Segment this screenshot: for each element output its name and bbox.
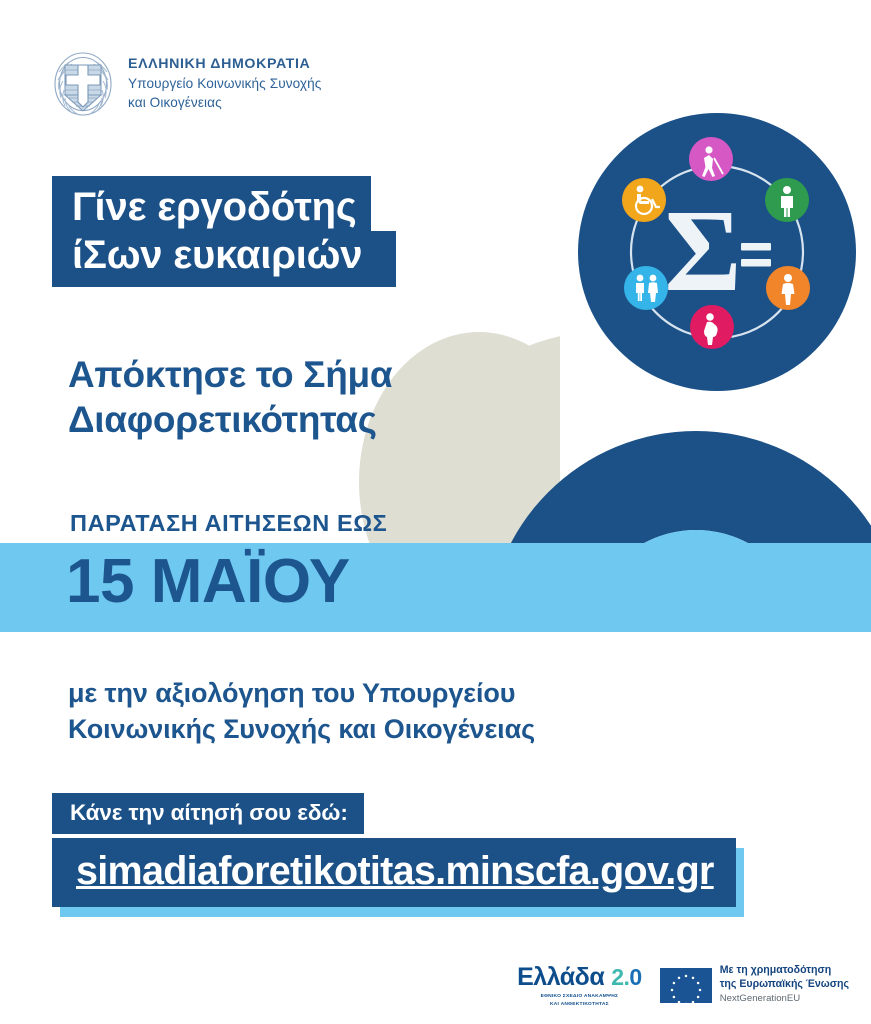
main-headline: Γίνε εργοδότης ίΣων ευκαιριών: [52, 176, 396, 287]
headline-line1: Γίνε εργοδότης: [52, 176, 371, 231]
eu-funding-text: Με τη χρηματοδότηση της Ευρωπαϊκής Ένωση…: [720, 964, 849, 1006]
ellada-word: Ελλάδα: [517, 963, 604, 992]
government-header: ΕΛΛΗΝΙΚΗ ΔΗΜΟΚΡΑΤΙΑ Υπουργείο Κοινωνικής…: [52, 50, 321, 122]
diversity-emblem-graphic: Σ: [578, 113, 856, 391]
eu-funding-line3: NextGenerationEU: [720, 992, 849, 1006]
eu-funding-logo: Με τη χρηματοδότηση της Ευρωπαϊκής Ένωση…: [660, 964, 849, 1006]
footer-logos: Ελλάδα 2.0 ΕΘΝΙΚΟ ΣΧΕΔΙΟ ΑΝΑΚΑΜΨΗΣ ΚΑΙ Α…: [0, 963, 871, 1008]
emblem-circle-bg: [578, 113, 856, 391]
wheelchair-accessibility-icon: [622, 178, 666, 222]
ellada-version: 2.0: [611, 964, 641, 991]
blind-person-cane-icon: [689, 137, 733, 181]
ellada-subtitle-line1: ΕΘΝΙΚΟ ΣΧΕΔΙΟ ΑΝΑΚΑΜΨΗΣ: [517, 993, 642, 1000]
eu-flag-icon: [660, 968, 712, 1003]
headline-row-2: ίΣων ευκαιριών: [52, 231, 396, 287]
ellada-subtitle: ΕΘΝΙΚΟ ΣΧΕΔΙΟ ΑΝΑΚΑΜΨΗΣ ΚΑΙ ΑΝΘΕΚΤΙΚΟΤΗΤ…: [517, 993, 642, 1008]
headline-line2: ίΣων ευκαιριών: [52, 231, 396, 287]
family-two-people-icon: [624, 266, 668, 310]
application-url-link[interactable]: simadiaforetikotitas.minscfa.gov.gr: [52, 838, 736, 907]
emblem-orbit-ring: [631, 166, 803, 338]
pregnant-woman-icon: [690, 305, 734, 349]
body-copy: με την αξιολόγηση του Υπουργείου Κοινωνι…: [68, 676, 535, 748]
deadline-date: 15 ΜΑΪΟΥ: [66, 551, 350, 613]
ellada-wordmark: Ελλάδα 2.0: [517, 963, 642, 992]
sigma-symbol: Σ: [664, 185, 741, 316]
greek-coat-of-arms-icon: [52, 50, 114, 122]
ministry-label-line1: Υπουργείο Κοινωνικής Συνοχής: [128, 74, 321, 93]
deadline-kicker: ΠΑΡΑΤΑΣΗ ΑΙΤΗΣΕΩΝ ΕΩΣ: [70, 510, 387, 537]
equals-symbol-bar-bottom: [741, 259, 771, 267]
eu-funding-line2: της Ευρωπαϊκής Ένωσης: [720, 978, 849, 992]
subheadline-line2: Διαφορετικότητας: [68, 397, 392, 442]
person-standing-icon: [765, 178, 809, 222]
republic-label: ΕΛΛΗΝΙΚΗ ΔΗΜΟΚΡΑΤΙΑ: [128, 56, 321, 74]
band-bottom-mask: [390, 632, 871, 662]
government-titles: ΕΛΛΗΝΙΚΗ ΔΗΜΟΚΡΑΤΙΑ Υπουργείο Κοινωνικής…: [128, 50, 321, 112]
ellada-2-0-logo: Ελλάδα 2.0 ΕΘΝΙΚΟ ΣΧΕΔΙΟ ΑΝΑΚΑΜΨΗΣ ΚΑΙ Α…: [517, 963, 642, 1008]
url-button-wrapper[interactable]: simadiaforetikotitas.minscfa.gov.gr: [52, 838, 736, 907]
equals-symbol-bar-top: [741, 243, 771, 251]
headline-row-1: Γίνε εργοδότης: [52, 176, 396, 231]
pregnant-person-icon: [766, 266, 810, 310]
subheadline: Απόκτησε το Σήμα Διαφορετικότητας: [68, 352, 392, 442]
cta-label: Κάνε την αίτησή σου εδώ:: [52, 793, 364, 834]
body-copy-line2: Κοινωνικής Συνοχής και Οικογένειας: [68, 712, 535, 748]
eu-funding-line1: Με τη χρηματοδότηση: [720, 964, 849, 978]
ministry-label-line2: και Οικογένειας: [128, 93, 321, 112]
ellada-subtitle-line2: ΚΑΙ ΑΝΘΕΚΤΙΚΟΤΗΤΑΣ: [517, 1001, 642, 1008]
subheadline-line1: Απόκτησε το Σήμα: [68, 352, 392, 397]
body-copy-line1: με την αξιολόγηση του Υπουργείου: [68, 676, 535, 712]
